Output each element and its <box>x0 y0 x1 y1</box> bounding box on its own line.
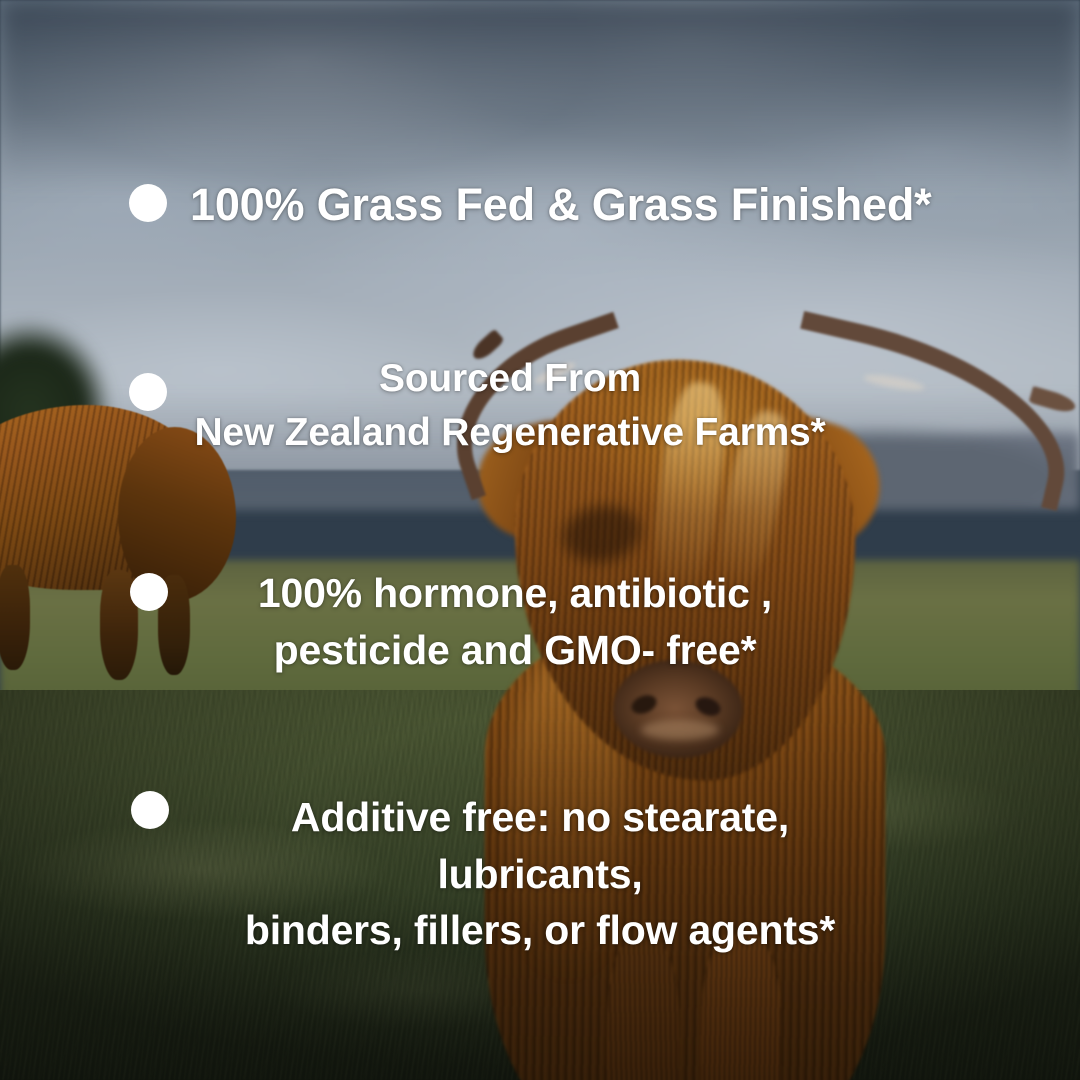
benefit-text-additive-free: Additive free: no stearate, lubricants, … <box>190 789 890 959</box>
filled-circle-bullet-icon <box>130 573 168 611</box>
infographic-canvas: 100% Grass Fed & Grass Finished* Sourced… <box>0 0 1080 1080</box>
benefits-bullet-list: 100% Grass Fed & Grass Finished* Sourced… <box>0 0 1080 1080</box>
filled-circle-bullet-icon <box>129 184 167 222</box>
benefit-text-grass-fed: 100% Grass Fed & Grass Finished* <box>190 178 1010 233</box>
filled-circle-bullet-icon <box>131 791 169 829</box>
benefit-text-sourced-from-nz: Sourced From New Zealand Regenerative Fa… <box>95 352 925 460</box>
benefit-text-hormone-free: 100% hormone, antibiotic , pesticide and… <box>190 565 840 678</box>
